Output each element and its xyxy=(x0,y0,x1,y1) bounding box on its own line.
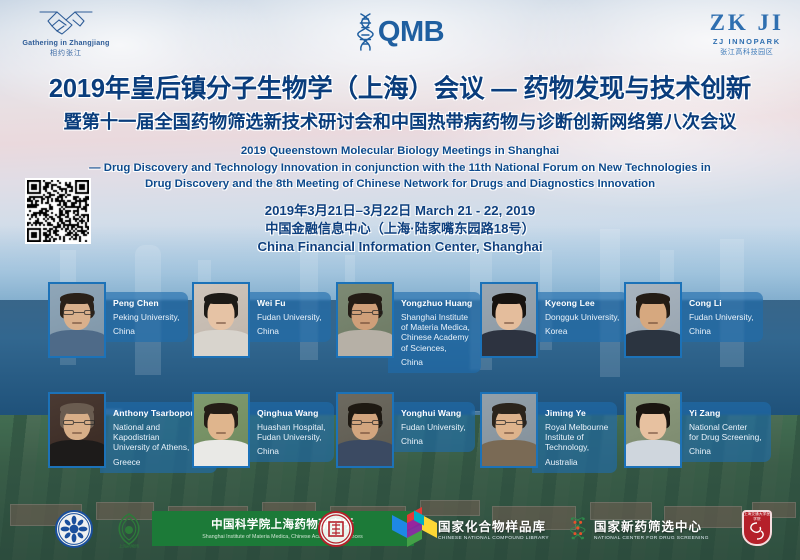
event-details-block: 2019年3月21日–3月22日 March 21 - 22, 2019 中国金… xyxy=(0,202,800,256)
zkji-sub-en: ZJ INNOPARK xyxy=(710,37,784,46)
portrait-illustration xyxy=(50,284,104,356)
speaker-photo xyxy=(480,282,538,358)
speaker-info-plate: Yi Zang National Centerfor Drug Screenin… xyxy=(676,402,771,462)
speaker-card: Qinghua Wang Huashan Hospital,Fudan Univ… xyxy=(192,392,334,468)
speaker-photo xyxy=(48,392,106,468)
portrait-illustration xyxy=(338,394,392,466)
zkji-mark: ZK JI xyxy=(710,10,784,36)
portrait-illustration xyxy=(194,284,248,356)
ncds-name-cn: 国家新药筛选中心 xyxy=(594,516,709,535)
speaker-affiliation: Royal MelbourneInstitute ofTechnology, xyxy=(545,422,608,453)
speaker-card: Yi Zang National Centerfor Drug Screenin… xyxy=(624,392,771,468)
handshake-icon xyxy=(37,7,95,37)
conference-poster: Gathering in Zhangjiang 相约张江 QMB ZK JI Z… xyxy=(0,0,800,560)
title-chinese-sub: 暨第十一届全国药物筛选新技术研讨会和中国热带病药物与诊断创新网络第八次会议 xyxy=(0,108,800,134)
title-english-line-2: — Drug Discovery and Technology Innovati… xyxy=(0,160,800,177)
event-venue-en: China Financial Information Center, Shan… xyxy=(0,238,800,256)
portrait-illustration xyxy=(338,284,392,356)
title-english-line-1: 2019 Queenstown Molecular Biology Meetin… xyxy=(0,143,800,160)
speaker-country: China xyxy=(257,326,322,336)
cas-seal-icon xyxy=(55,510,93,548)
zkji-sub-cn: 张江高科技园区 xyxy=(710,47,784,57)
speaker-info-plate: Kyeong Lee Dongguk University, Korea xyxy=(532,292,628,342)
qmb-logo: QMB xyxy=(356,12,444,52)
speaker-country: China xyxy=(689,326,754,336)
sponsor-red-seal xyxy=(318,511,354,547)
title-english-line-3: Drug Discovery and the 8th Meeting of Ch… xyxy=(0,176,800,193)
event-date: 2019年3月21日–3月22日 March 21 - 22, 2019 xyxy=(0,202,800,220)
zj-innopark-logo: ZK JI ZJ INNOPARK 张江高科技园区 xyxy=(710,10,784,57)
speaker-name: Wei Fu xyxy=(257,298,322,308)
speaker-name: Qinghua Wang xyxy=(257,408,325,418)
speaker-info-plate: Cong Li Fudan University, China xyxy=(676,292,763,342)
sponsor-simm-leaf: 上海药物所 xyxy=(112,512,146,548)
speaker-name: Yi Zang xyxy=(689,408,762,418)
speaker-affiliation: Shanghai Instituteof Materia Medica,Chin… xyxy=(401,312,472,353)
speaker-info-plate: Peng Chen Peking University, China xyxy=(100,292,188,342)
speaker-card: Yongzhuo Huang Shanghai Instituteof Mate… xyxy=(336,282,481,373)
speaker-info-plate: Jiming Ye Royal MelbourneInstitute ofTec… xyxy=(532,402,617,473)
leaf-icon: 上海药物所 xyxy=(112,512,146,548)
speaker-photo xyxy=(480,392,538,468)
speaker-card: Peng Chen Peking University, China xyxy=(48,282,188,358)
sponsor-cncl: 国家化合物样品库 CHINESE NATIONAL COMPOUND LIBRA… xyxy=(398,511,549,545)
speaker-info-plate: Yongzhuo Huang Shanghai Instituteof Mate… xyxy=(388,292,481,373)
portrait-illustration xyxy=(50,394,104,466)
speaker-affiliation: Dongguk University, xyxy=(545,312,619,322)
logo-caption-cn: 相约张江 xyxy=(50,48,82,58)
speaker-card: Kyeong Lee Dongguk University, Korea xyxy=(480,282,628,358)
speaker-country: China xyxy=(113,326,179,336)
speaker-info-plate: Wei Fu Fudan University, China xyxy=(244,292,331,342)
title-chinese-main: 2019年皇后镇分子生物学（上海）会议 — 药物发现与技术创新 xyxy=(0,68,800,105)
gathering-in-zhangjiang-logo: Gathering in Zhangjiang 相约张江 xyxy=(18,7,114,63)
title-block: 2019年皇后镇分子生物学（上海）会议 — 药物发现与技术创新 暨第十一届全国药… xyxy=(0,68,800,256)
speaker-name: Jiming Ye xyxy=(545,408,608,418)
qmb-logo-text: QMB xyxy=(378,16,444,49)
speaker-photo xyxy=(192,282,250,358)
speaker-affiliation: Fudan University, xyxy=(257,312,322,322)
speaker-info-plate: Yonghui Wang Fudan University, China xyxy=(388,402,475,452)
university-shield-icon: 上海交通大学医学院 xyxy=(742,510,772,546)
speaker-country: China xyxy=(257,446,325,456)
speaker-name: Yongzhuo Huang xyxy=(401,298,472,308)
sponsor-cas-seal xyxy=(55,510,93,548)
speaker-country: Australia xyxy=(545,457,608,467)
speaker-name: Cong Li xyxy=(689,298,754,308)
svg-text:上海药物所: 上海药物所 xyxy=(119,543,139,549)
speaker-photo xyxy=(48,282,106,358)
logo-caption-en: Gathering in Zhangjiang xyxy=(22,38,109,47)
sponsor-simm-nameplate: 中国科学院上海药物研究所 Shanghai Institute of Mater… xyxy=(152,511,414,546)
speaker-affiliation: Peking University, xyxy=(113,312,179,322)
speaker-info-plate: Qinghua Wang Huashan Hospital,Fudan Univ… xyxy=(244,402,334,462)
portrait-illustration xyxy=(194,394,248,466)
title-english-block: 2019 Queenstown Molecular Biology Meetin… xyxy=(0,143,800,193)
speaker-card: Wei Fu Fudan University, China xyxy=(192,282,331,358)
speaker-photo xyxy=(624,282,682,358)
speaker-country: Korea xyxy=(545,326,619,336)
cncl-text: 国家化合物样品库 CHINESE NATIONAL COMPOUND LIBRA… xyxy=(438,516,549,541)
speaker-photo xyxy=(624,392,682,468)
sponsor-shield: 上海交通大学医学院 xyxy=(742,510,772,546)
dna-molecule-icon xyxy=(570,511,587,545)
red-seal-icon xyxy=(318,511,354,547)
speaker-country: China xyxy=(401,436,466,446)
speaker-country: China xyxy=(689,446,762,456)
cncl-name-cn: 国家化合物样品库 xyxy=(438,516,549,535)
speaker-affiliation: Fudan University, xyxy=(401,422,466,432)
speaker-card: Jiming Ye Royal MelbourneInstitute ofTec… xyxy=(480,392,617,473)
portrait-illustration xyxy=(626,284,680,356)
speaker-card: Yonghui Wang Fudan University, China xyxy=(336,392,475,468)
ncds-name-en: NATIONAL CENTER FOR DRUG SCREENING xyxy=(594,536,709,541)
portrait-illustration xyxy=(626,394,680,466)
cncl-name-en: CHINESE NATIONAL COMPOUND LIBRARY xyxy=(438,536,549,541)
dna-helix-icon xyxy=(356,12,376,52)
speaker-affiliation: National Centerfor Drug Screening, xyxy=(689,422,762,442)
speaker-card: Cong Li Fudan University, China xyxy=(624,282,763,358)
ncds-text: 国家新药筛选中心 NATIONAL CENTER FOR DRUG SCREEN… xyxy=(594,516,709,541)
event-venue-cn: 中国金融信息中心（上海·陆家嘴东园路18号） xyxy=(0,220,800,238)
sponsor-logo-bar: 上海药物所 中国科学院上海药物研究所 Shanghai Institute of… xyxy=(0,498,800,560)
speaker-affiliation: Huashan Hospital,Fudan University, xyxy=(257,422,325,442)
speaker-name: Yonghui Wang xyxy=(401,408,466,418)
speaker-affiliation: Fudan University, xyxy=(689,312,754,322)
compound-library-cube-icon xyxy=(398,511,432,545)
portrait-illustration xyxy=(482,284,536,356)
qr-code[interactable] xyxy=(25,178,91,244)
speaker-name: Peng Chen xyxy=(113,298,179,308)
portrait-illustration xyxy=(482,394,536,466)
speaker-name: Kyeong Lee xyxy=(545,298,619,308)
speaker-photo xyxy=(336,282,394,358)
speaker-photo xyxy=(336,392,394,468)
sponsor-ncds: 国家新药筛选中心 NATIONAL CENTER FOR DRUG SCREEN… xyxy=(570,511,709,545)
speaker-country: China xyxy=(401,357,472,367)
speaker-photo xyxy=(192,392,250,468)
header-logo-bar: Gathering in Zhangjiang 相约张江 QMB ZK JI Z… xyxy=(0,0,800,66)
